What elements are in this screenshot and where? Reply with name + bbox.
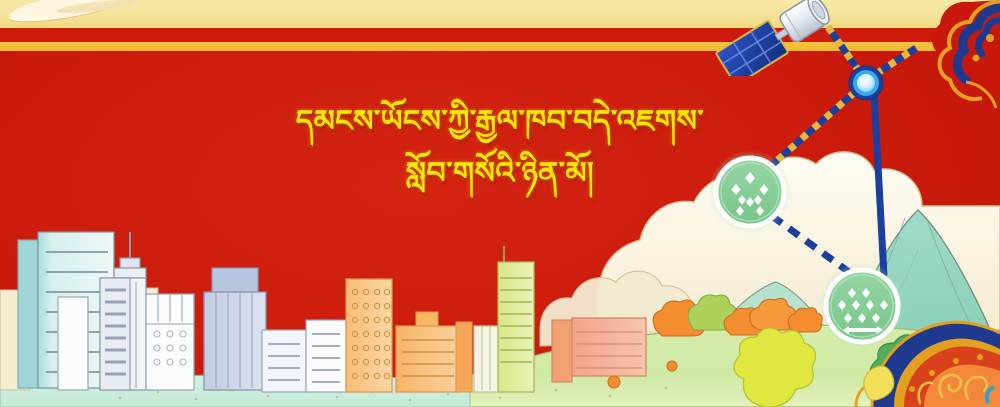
link-hub-to-node-upper [766,92,855,170]
satellite-icon [712,0,842,76]
banner-root: དམངས་ཡོངས་ཀྱི་རྒྱལ་ཁབ་བདེ་འཇགས་ སློབ་གསོ… [0,0,1000,407]
satellite-body [778,0,833,44]
tibetan-floral-ornament-bottom-right [850,277,1000,407]
satellite-solar-panel [716,20,789,76]
tibetan-cloud-ornament-top-right [870,0,1000,120]
data-node-upper [708,150,792,234]
